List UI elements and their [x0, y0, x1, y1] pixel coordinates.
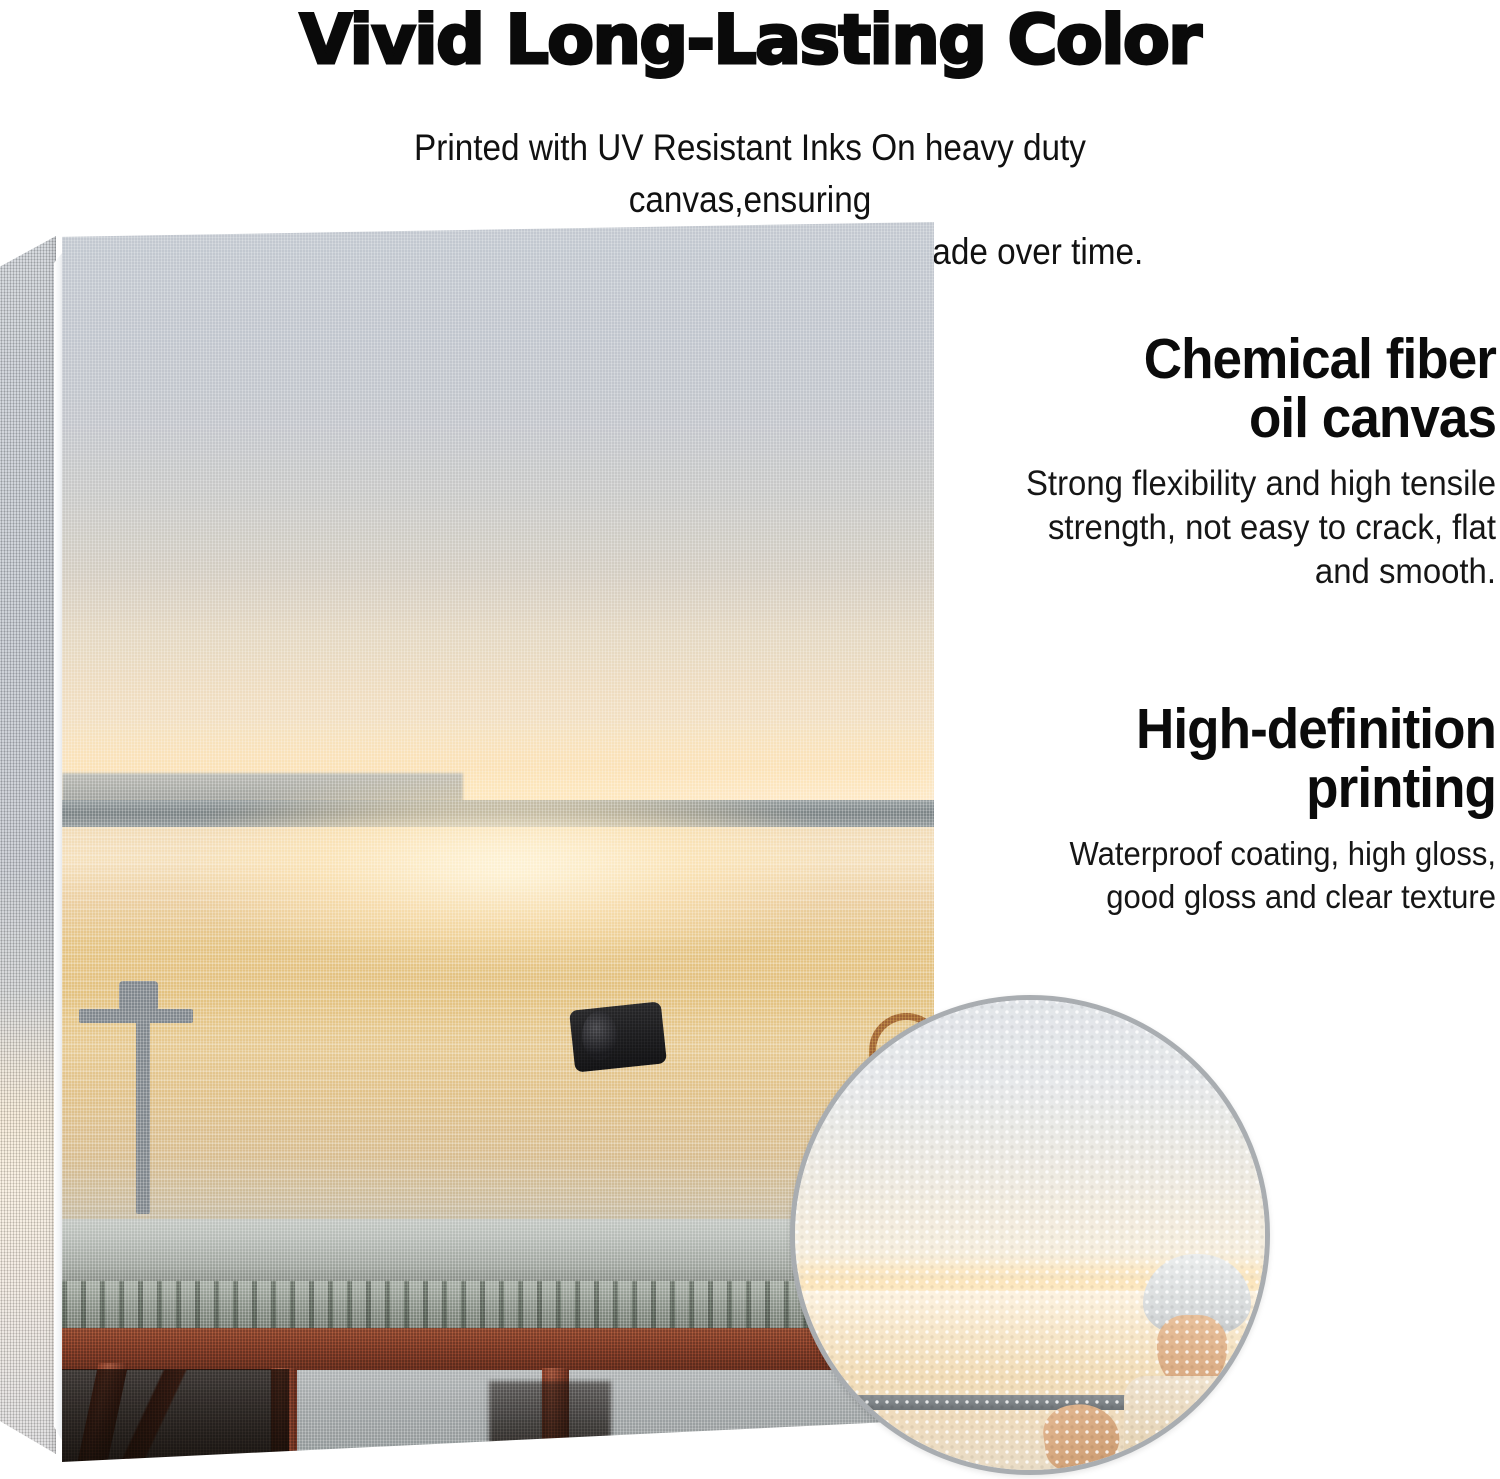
- pier-shadow-center: [489, 1381, 611, 1462]
- feature-title-line-1: Chemical fiber: [942, 330, 1496, 389]
- page-title: Vivid Long-Lasting Color: [0, 4, 1500, 78]
- sun-glow: [184, 768, 829, 966]
- railing-top-cap: [119, 981, 158, 1011]
- railing-bar: [79, 1009, 192, 1023]
- pier-shadow-left: [62, 1369, 289, 1462]
- subtitle-line-1: Printed with UV Resistant Inks On heavy …: [300, 122, 1200, 226]
- canvas-wrapped-edge: [0, 236, 56, 1454]
- camera-lens: [582, 1011, 617, 1061]
- feature-body-line-1: Strong flexibility and high tensile: [936, 462, 1496, 506]
- feature-chemical-fiber-oil-canvas: Chemical fiber oil canvas Strong flexibi…: [900, 330, 1496, 594]
- feature-body: Waterproof coating, high gloss, good glo…: [936, 832, 1496, 918]
- magnified-sky: [795, 1000, 1265, 1273]
- feature-high-definition-printing: High-definition printing Waterproof coat…: [900, 700, 1496, 918]
- feature-body-line-2: good gloss and clear texture: [936, 875, 1496, 918]
- railing-post: [136, 1003, 150, 1214]
- feature-title-line-1: High-definition: [942, 700, 1496, 759]
- canvas-edge-weave-texture: [0, 236, 56, 1454]
- magnified-body: [1124, 1376, 1246, 1470]
- feature-title: High-definition printing: [942, 700, 1496, 818]
- feature-title-line-2: printing: [942, 759, 1496, 818]
- feature-body-line-2: strength, not easy to crack, flat: [936, 506, 1496, 550]
- feature-title: Chemical fiber oil canvas: [942, 330, 1496, 448]
- feature-title-line-2: oil canvas: [942, 389, 1496, 448]
- feature-body-line-1: Waterproof coating, high gloss,: [936, 832, 1496, 875]
- feature-body-line-3: and smooth.: [936, 550, 1496, 594]
- canvas-texture-magnifier: [790, 995, 1270, 1475]
- feature-body: Strong flexibility and high tensile stre…: [936, 462, 1496, 594]
- product-feature-image: Vivid Long-Lasting Color Printed with UV…: [0, 0, 1500, 1479]
